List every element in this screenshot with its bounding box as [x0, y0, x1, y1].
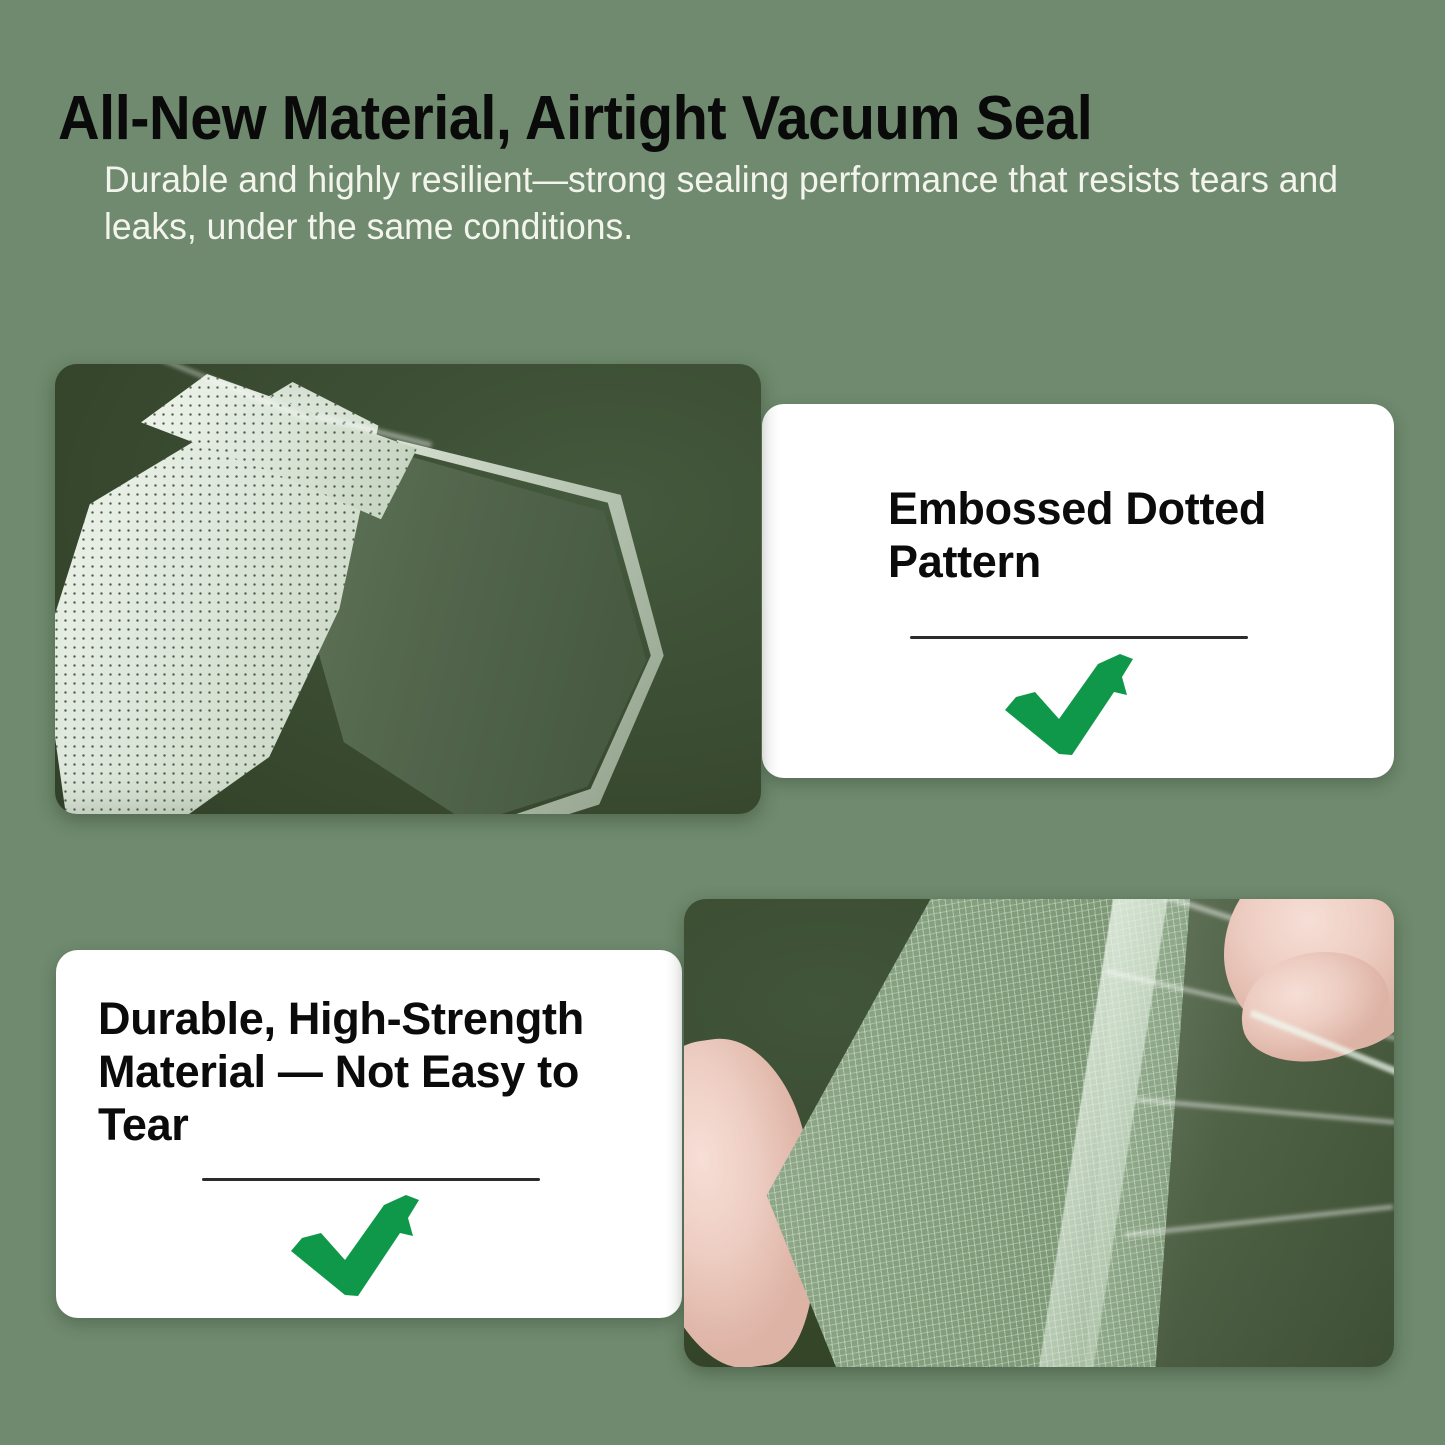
feature-heading: Embossed Dotted Pattern [888, 482, 1358, 588]
page-title: All-New Material, Airtight Vacuum Seal [58, 86, 1323, 152]
green-check-icon [288, 1193, 438, 1301]
feature-card-durable-material[interactable]: Durable, High-Strength Material — Not Ea… [56, 950, 682, 1318]
product-feature-infographic: All-New Material, Airtight Vacuum Seal D… [0, 0, 1445, 1445]
green-check-icon [1002, 652, 1152, 760]
page-subtitle: Durable and highly resilient—strong seal… [104, 156, 1342, 250]
feature-divider [910, 636, 1248, 639]
product-photo-stretch-test [684, 899, 1394, 1367]
feature-card-embossed-pattern[interactable]: Embossed Dotted Pattern [762, 404, 1394, 778]
product-photo-embossed-sheet [55, 364, 761, 814]
feature-divider [202, 1178, 540, 1181]
feature-heading: Durable, High-Strength Material — Not Ea… [98, 992, 658, 1151]
folded-sheet-illustration [55, 364, 761, 814]
